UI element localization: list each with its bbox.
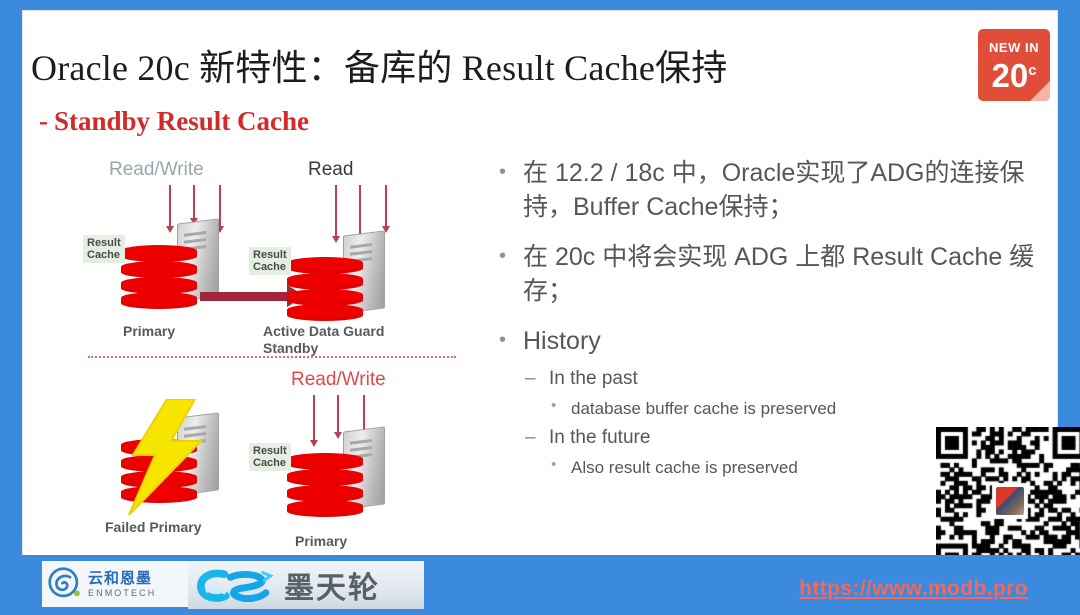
slide-subtitle: -Standby Result Cache [39, 106, 309, 137]
logo-modb[interactable]: 墨天轮 [188, 561, 424, 609]
enmotech-wordmark: 云和恩墨 ENMOTECH [88, 571, 156, 598]
bullet-item: 在 20c 中将会实现 ADG 上都 Result Cache 缓存； [493, 240, 1038, 308]
cylinder-band [287, 500, 363, 517]
result-cache-tag: Result Cache [249, 247, 291, 275]
logo-enmotech[interactable]: 云和恩墨 ENMOTECH [42, 561, 190, 607]
standby-result-cache-diagram: Read/Write Read Result [63, 151, 483, 546]
node-active-data-guard-standby: Result Cache Active Data Guard Standby [277, 231, 389, 331]
result-cache-tag-line2: Cache [253, 261, 287, 273]
enmotech-name-en: ENMOTECH [88, 589, 156, 598]
qr-code[interactable] [936, 427, 1080, 575]
cylinder-band [287, 469, 363, 486]
slide-canvas: Oracle 20c 新特性：备库的 Result Cache保持 -Stand… [22, 10, 1058, 562]
qr-center-logo-icon [994, 485, 1026, 517]
bullet-sub-sub-item: database buffer cache is preserved [493, 394, 1038, 423]
node-caption-line1: Active Data Guard [263, 323, 384, 340]
node-caption: Primary [123, 323, 175, 340]
page-title: Oracle 20c 新特性：备库的 Result Cache保持 [31, 39, 971, 91]
cylinder-band [121, 292, 197, 309]
cylinder-band [287, 257, 363, 274]
slide-frame: Oracle 20c 新特性：备库的 Result Cache保持 -Stand… [0, 0, 1080, 615]
node-primary-bottom: Result Cache Primary [277, 427, 389, 527]
footer-bar: 云和恩墨 ENMOTECH 墨天轮 https://www.modb.pro [0, 555, 1080, 615]
result-cache-tag: Result Cache [83, 235, 125, 263]
diagram-label-read-write-bottom: Read/Write [291, 369, 386, 391]
result-cache-tag-line2: Cache [87, 249, 121, 261]
enmotech-name-cn: 云和恩墨 [88, 571, 156, 586]
database-cylinder-icon [287, 257, 363, 321]
cylinder-band [287, 273, 363, 290]
badge-version: 20c [978, 53, 1050, 94]
result-cache-tag-line1: Result [253, 249, 287, 261]
subtitle-dash: - [39, 106, 48, 136]
replication-arrow-icon [200, 292, 288, 301]
result-cache-tag: Result Cache [249, 443, 291, 471]
arrow-down-icon [385, 185, 387, 227]
bullet-item: 在 12.2 / 18c 中，Oracle实现了ADG的连接保持，Buffer … [493, 156, 1038, 224]
cylinder-band [121, 261, 197, 278]
cylinder-band [287, 453, 363, 470]
modb-name-cn: 墨天轮 [284, 563, 380, 607]
arrow-down-icon [359, 185, 361, 237]
enmotech-swirl-icon [48, 567, 82, 601]
result-cache-tag-line1: Result [87, 237, 121, 249]
database-cylinder-icon [287, 453, 363, 517]
badge-version-suffix: c [1028, 62, 1036, 79]
cylinder-band [121, 245, 197, 262]
node-caption: Primary [295, 533, 347, 550]
modb-cs-mark-icon [196, 568, 274, 602]
diagram-divider [88, 356, 456, 358]
bullet-item-history: History [493, 324, 1038, 358]
arrow-down-icon [193, 185, 195, 219]
database-cylinder-icon [121, 245, 197, 309]
result-cache-tag-line2: Cache [253, 457, 287, 469]
node-failed-primary: Failed Primary [111, 413, 223, 513]
cylinder-band [287, 304, 363, 321]
new-in-20c-badge: NEW IN 20c [978, 29, 1050, 101]
site-url-link[interactable]: https://www.modb.pro [799, 577, 1028, 601]
diagram-label-read-write-top: Read/Write [109, 159, 204, 181]
subtitle-text: Standby Result Cache [54, 106, 309, 136]
result-cache-tag-line1: Result [253, 445, 287, 457]
node-caption: Failed Primary [105, 519, 202, 536]
node-primary-top: Result Cache Primary [111, 219, 223, 319]
node-caption: Active Data Guard Standby [263, 323, 384, 357]
badge-version-number: 20 [991, 57, 1028, 94]
arrow-down-icon [335, 185, 337, 237]
bullet-sub-item: In the past [493, 364, 1038, 394]
node-caption-line2: Standby [263, 340, 384, 357]
diagram-label-read-top: Read [308, 159, 353, 181]
